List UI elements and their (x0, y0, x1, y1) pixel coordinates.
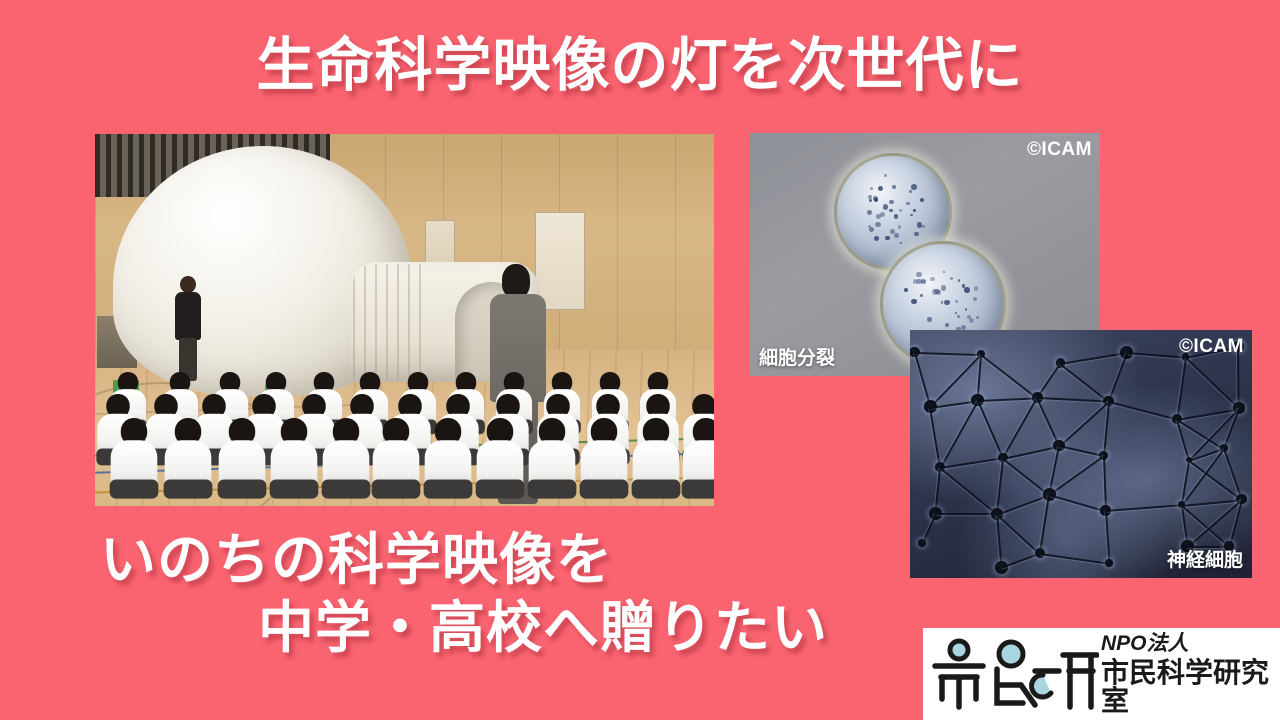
seated-student (580, 418, 629, 488)
cell-speck (911, 299, 916, 304)
student-trousers (110, 480, 159, 499)
cell-speck (911, 184, 916, 189)
student-trousers (682, 480, 714, 499)
cell-speck (868, 195, 872, 199)
seated-student (476, 418, 525, 488)
cell-speck (955, 300, 958, 303)
cell-speck (875, 222, 880, 227)
cell-speck (941, 285, 947, 291)
cell-speck (898, 225, 901, 228)
student-trousers (322, 480, 371, 499)
student-trousers (164, 480, 213, 499)
cell-speck (876, 214, 881, 219)
student-trousers (372, 480, 421, 499)
cell-speck (909, 190, 912, 193)
presenter-body (175, 292, 201, 340)
cell-speck (974, 286, 978, 290)
cell-speck (870, 187, 873, 190)
cell-speck (950, 277, 953, 280)
cell-speck (964, 287, 970, 293)
cell-speck (892, 185, 895, 188)
organization-logo: NPO法人 市民科学研究室 (923, 628, 1280, 720)
cell-speck (904, 288, 908, 292)
seated-student (372, 418, 421, 488)
cell-speck (900, 242, 902, 244)
cell-speck (944, 300, 949, 305)
seated-student (218, 418, 267, 488)
page-title: 生命科学映像の灯を次世代に (0, 18, 1280, 102)
cell-speck (883, 204, 889, 210)
poster-canvas: 生命科学映像の灯を次世代に (0, 0, 1280, 720)
cell-speck (917, 222, 923, 228)
student-trousers (424, 480, 473, 499)
cell-speck (884, 174, 887, 177)
seated-student (322, 418, 371, 488)
cell-speck (920, 198, 924, 202)
icam-watermark: ©ICAM (1179, 336, 1244, 358)
logo-text-block: NPO法人 市民科学研究室 (1101, 633, 1280, 715)
cell-speck (873, 196, 878, 201)
cell-speck (920, 294, 923, 297)
cell-speck (885, 236, 889, 240)
cell-speck (941, 301, 943, 303)
gym-dome-photo (95, 134, 714, 506)
seated-student (528, 418, 577, 488)
cell-speck (945, 323, 949, 327)
shimin-ken-logo-icon (931, 635, 1099, 713)
student-trousers (528, 480, 577, 499)
student-trousers (476, 480, 525, 499)
seated-student (110, 418, 159, 488)
cell-speck (913, 209, 915, 211)
student-trousers (632, 480, 681, 499)
logo-organization-name: 市民科学研究室 (1101, 659, 1280, 715)
cell-speck (894, 214, 899, 219)
cell-speck (914, 232, 918, 236)
seated-student (682, 418, 714, 488)
cell-speck (927, 317, 931, 321)
tunnel-ribs (353, 264, 421, 380)
seated-student (424, 418, 473, 488)
student-trousers (270, 480, 319, 499)
icam-watermark: ©ICAM (1027, 139, 1092, 161)
seated-student (270, 418, 319, 488)
logo-npo-label: NPO法人 (1101, 633, 1280, 654)
campaign-message-line-1: いのちの科学映像を (0, 526, 1280, 594)
student-trousers (580, 480, 629, 499)
teacher-head (502, 264, 530, 298)
presenter-person (173, 276, 203, 381)
cell-speck (916, 279, 922, 285)
student-trousers (218, 480, 267, 499)
shimin-ken-logo-svg (931, 635, 1099, 713)
seated-student (164, 418, 213, 488)
cell-speck (889, 209, 892, 212)
cell-division-caption: 細胞分裂 (759, 343, 835, 370)
presenter-head (180, 276, 196, 293)
cell-speck (937, 290, 941, 294)
seated-student (632, 418, 681, 488)
